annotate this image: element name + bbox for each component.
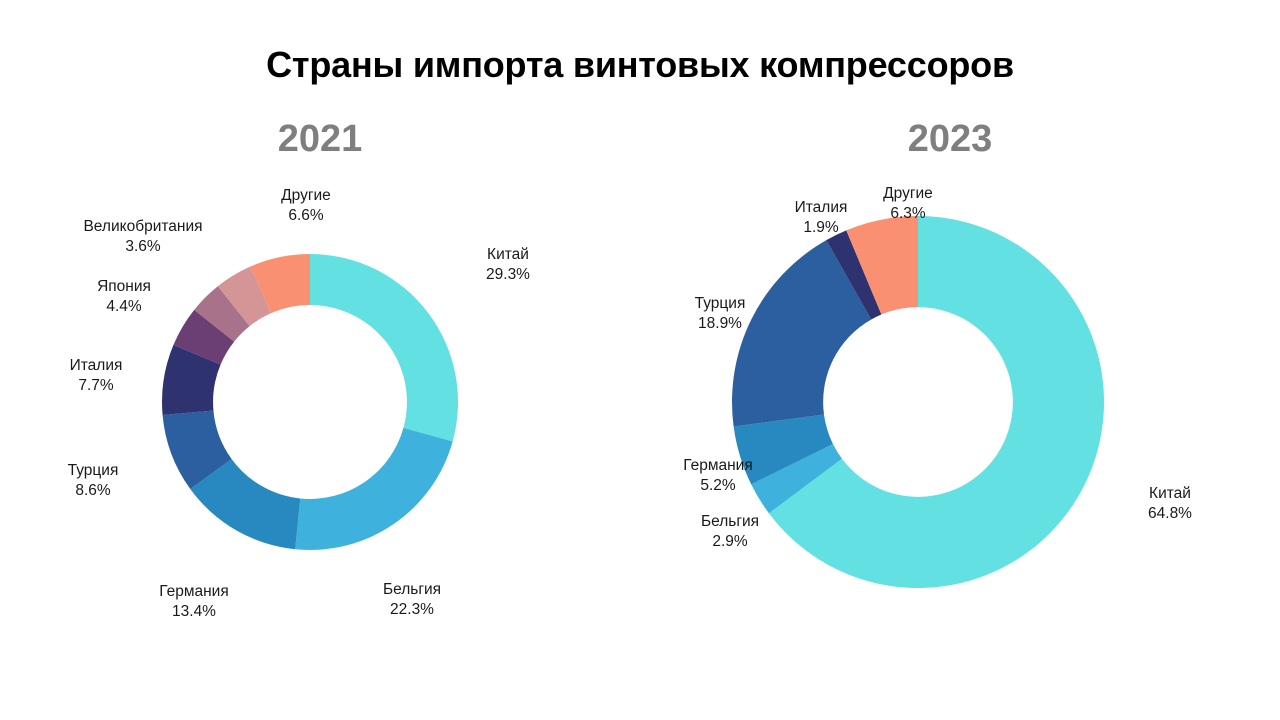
slice-label-belgium-2023: Бельгия 2.9%	[665, 512, 795, 551]
slice-label-belgium-2021: Бельгия 22.3%	[342, 580, 482, 619]
chart-year-2023: 2023	[670, 118, 1230, 161]
slide-canvas: Страны импорта винтовых компрессоров 202…	[0, 0, 1280, 720]
slice-label-italy-2021: Италия 7.7%	[36, 356, 156, 395]
slice-label-china-2021: Китай 29.3%	[448, 245, 568, 284]
donut-chart-2021: Другие 6.6% Великобритания 3.6% Япония 4…	[40, 184, 600, 684]
slice-label-germany-2021: Германия 13.4%	[124, 582, 264, 621]
donut-svg-2023	[670, 184, 1230, 684]
page-title: Страны импорта винтовых компрессоров	[0, 44, 1280, 86]
chart-panel-2023: 2023 Другие 6.3% Италия 1.9% Турция 18.9…	[670, 118, 1230, 698]
donut-slice	[295, 428, 452, 550]
slice-label-germany-2023: Германия 5.2%	[648, 456, 788, 495]
slice-label-turkey-2023: Турция 18.9%	[660, 294, 780, 333]
chart-panel-2021: 2021 Другие 6.6% Великобритания 3.6% Япо…	[40, 118, 600, 698]
donut-chart-2023: Другие 6.3% Италия 1.9% Турция 18.9% Гер…	[670, 184, 1230, 684]
slice-label-china-2023: Китай 64.8%	[1110, 484, 1230, 523]
chart-year-2021: 2021	[40, 118, 600, 161]
slice-label-italy-2023: Италия 1.9%	[766, 198, 876, 237]
donut-slice	[310, 254, 458, 442]
slice-label-japan-2021: Япония 4.4%	[64, 277, 184, 316]
slice-label-others-2021: Другие 6.6%	[246, 186, 366, 225]
slice-label-uk-2021: Великобритания 3.6%	[48, 217, 238, 256]
slice-label-turkey-2021: Турция 8.6%	[33, 461, 153, 500]
